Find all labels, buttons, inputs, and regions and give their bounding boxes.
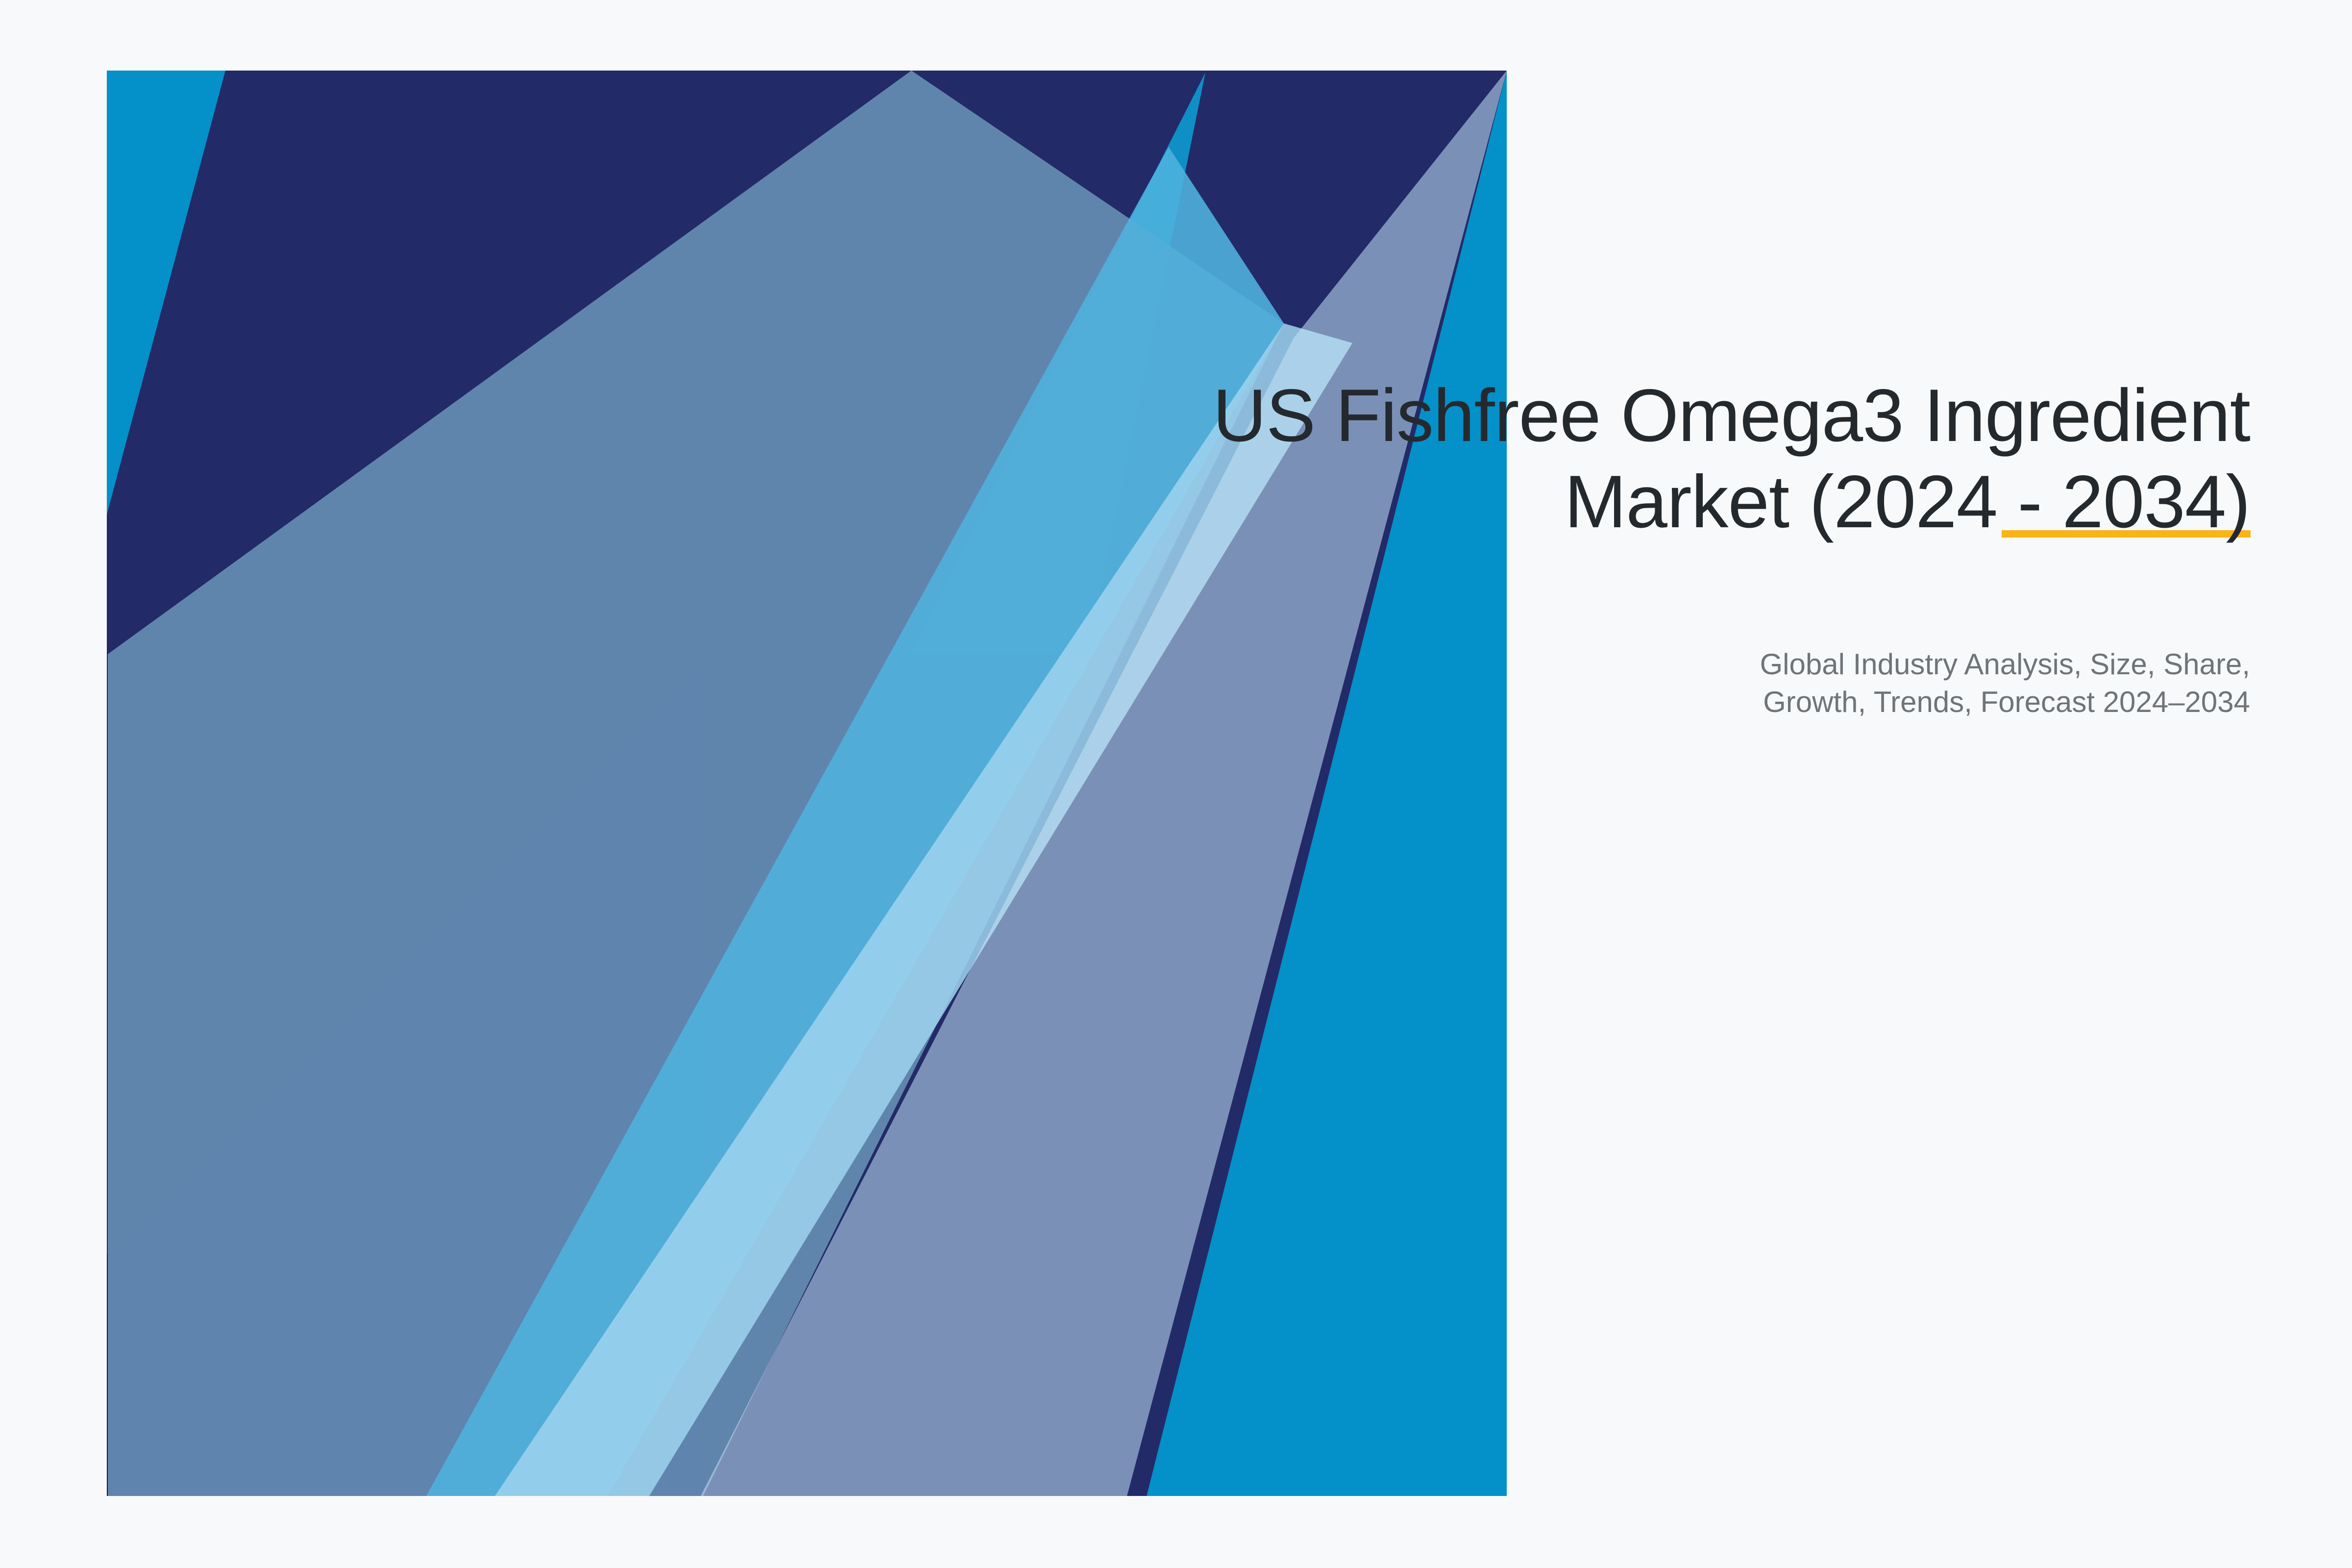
page-subtitle: Global Industry Analysis, Size, Share, G…: [1421, 646, 2250, 721]
abstract-geometric-banner: [0, 0, 2352, 1568]
report-cover: US Fishfree Omega3 Ingredient Market (20…: [0, 0, 2352, 1568]
page-title: US Fishfree Omega3 Ingredient Market (20…: [1068, 372, 2250, 545]
cover-text-block: US Fishfree Omega3 Ingredient Market (20…: [1068, 372, 2250, 545]
